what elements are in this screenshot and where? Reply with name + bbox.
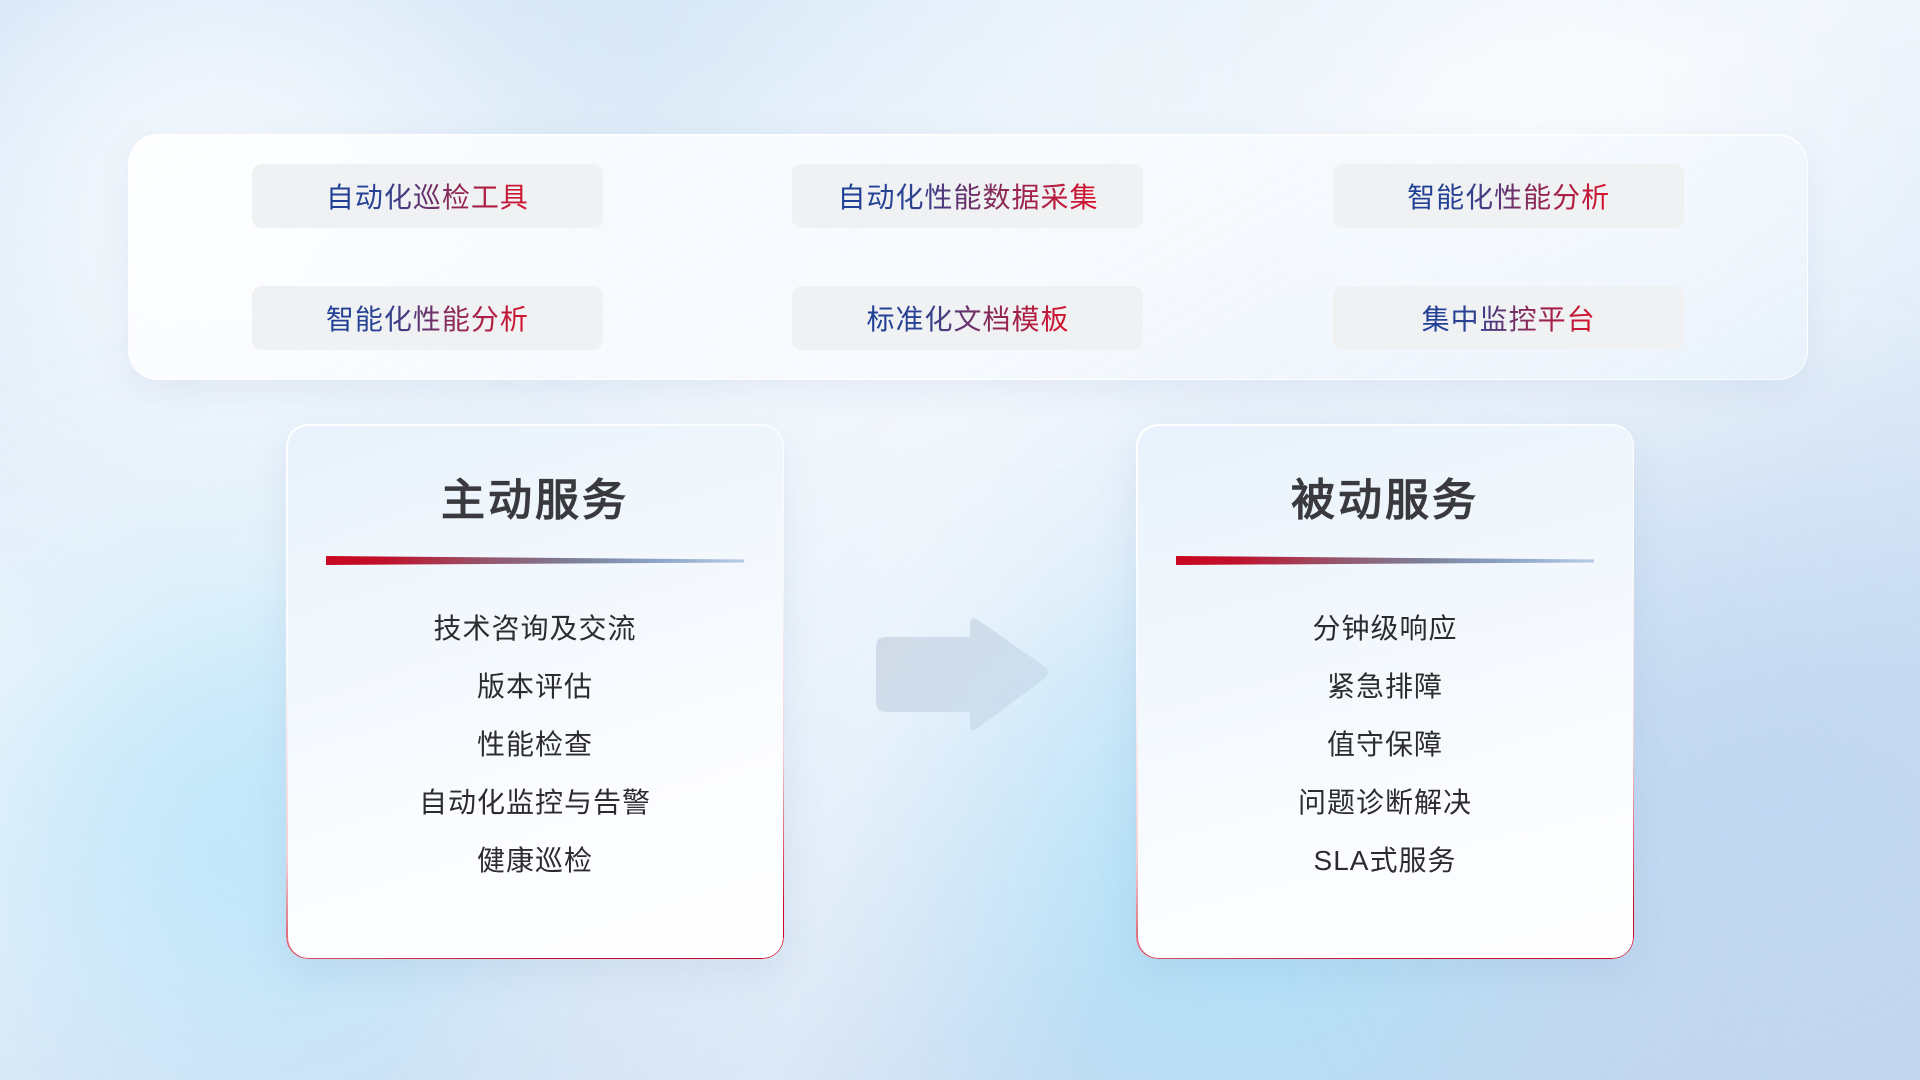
- capability-pill-label: 自动化巡检工具: [326, 176, 529, 216]
- capability-pill-1[interactable]: 自动化巡检工具: [250, 162, 605, 230]
- divider-taper-icon: [1176, 555, 1594, 567]
- service-list-item: 性能检查: [286, 716, 784, 774]
- capability-panel: 自动化巡检工具 自动化性能数据采集 智能化性能分析 智能化性能分析 标准化文档模…: [128, 134, 1808, 380]
- service-list-item: 紧急排障: [1136, 658, 1634, 716]
- service-item-list: 技术咨询及交流 版本评估 性能检查 自动化监控与告警 健康巡检: [286, 600, 784, 890]
- service-list-item: 版本评估: [286, 658, 784, 716]
- service-list-item: 分钟级响应: [1136, 600, 1634, 658]
- service-list-item: 自动化监控与告警: [286, 774, 784, 832]
- capability-pill-label: 智能化性能分析: [326, 298, 529, 338]
- service-item-list: 分钟级响应 紧急排障 值守保障 问题诊断解决 SLA式服务: [1136, 600, 1634, 890]
- service-list-item: 技术咨询及交流: [286, 600, 784, 658]
- service-list-item: SLA式服务: [1136, 832, 1634, 890]
- card-title: 被动服务: [1136, 464, 1634, 528]
- capability-pill-label: 标准化文档模板: [866, 298, 1069, 338]
- capability-pill-2[interactable]: 自动化性能数据采集: [790, 162, 1145, 230]
- service-list-item: 值守保障: [1136, 716, 1634, 774]
- capability-pill-5[interactable]: 标准化文档模板: [790, 284, 1145, 352]
- service-list-item: 健康巡检: [286, 832, 784, 890]
- service-card-passive: 被动服务 分钟级响应 紧急排障 值守保障 问题诊断解决 SLA式服务: [1136, 424, 1634, 959]
- capability-pill-label: 自动化性能数据采集: [837, 176, 1098, 216]
- capability-pill-3[interactable]: 智能化性能分析: [1331, 162, 1686, 230]
- service-card-active: 主动服务 技术咨询及交流 版本评估 性能检查 自动化监控与告警 健康巡检: [286, 424, 784, 959]
- divider-taper-icon: [326, 555, 744, 567]
- card-divider: [326, 554, 744, 566]
- card-title: 主动服务: [286, 464, 784, 528]
- capability-pill-label: 集中监控平台: [1422, 298, 1596, 338]
- arrow-right-icon: [866, 614, 1052, 738]
- capability-pill-label: 智能化性能分析: [1407, 176, 1610, 216]
- card-divider: [1176, 554, 1594, 566]
- service-list-item: 问题诊断解决: [1136, 774, 1634, 832]
- flow-arrow: [866, 614, 1052, 738]
- capability-pill-4[interactable]: 智能化性能分析: [250, 284, 605, 352]
- capability-pill-6[interactable]: 集中监控平台: [1331, 284, 1686, 352]
